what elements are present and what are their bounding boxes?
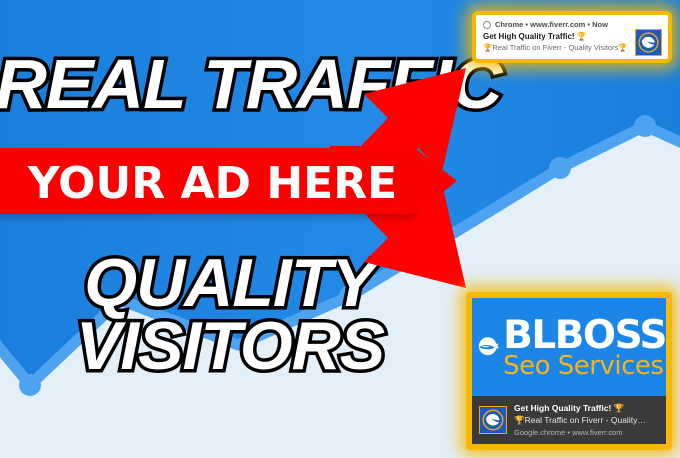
- blboss-brand-tagline: Seo Services: [503, 353, 666, 379]
- blboss-logo-area: BLBOSS Seo Services: [472, 298, 666, 396]
- notification-source-text: Chrome • www.fiverr.com • Now: [495, 20, 608, 29]
- chrome-ninja-icon: [635, 29, 662, 56]
- blboss-brand-block: BLBOSS Seo Services: [503, 316, 666, 379]
- blboss-notification-source: Google.chrome • www.fiverr.com: [514, 428, 646, 437]
- blboss-notification-row: Get High Quality Traffic! 🏆 🏆Real Traffi…: [472, 396, 666, 444]
- chart-marker: [634, 115, 656, 137]
- ad-banner-label: YOUR AD HERE: [0, 158, 425, 209]
- blboss-notification-subtitle: 🏆Real Traffic on Fiverr - Quality…: [514, 415, 646, 426]
- poster-canvas: REAL TRAFFIC YOUR AD HERE QUALITY VISITO…: [0, 0, 680, 458]
- blboss-notification-title: Get High Quality Traffic! 🏆: [514, 403, 646, 414]
- blboss-brand-name: BLBOSS: [503, 316, 666, 355]
- blboss-notification-text: Get High Quality Traffic! 🏆 🏆Real Traffi…: [514, 403, 646, 437]
- top-notification-card[interactable]: Chrome • www.fiverr.com • Now Get High Q…: [472, 11, 672, 63]
- chrome-icon: [483, 21, 491, 29]
- blboss-service-card[interactable]: BLBOSS Seo Services Get High Quality Tra…: [466, 292, 672, 450]
- notification-source-row: Chrome • www.fiverr.com • Now: [483, 20, 661, 29]
- notification-body: Chrome • www.fiverr.com • Now Get High Q…: [476, 15, 668, 59]
- headline-secondary-line2: VISITORS: [0, 315, 460, 378]
- chart-marker: [19, 374, 41, 396]
- chrome-ninja-icon: [479, 406, 507, 434]
- ninja-head-icon: [478, 319, 499, 375]
- blboss-card-body: BLBOSS Seo Services Get High Quality Tra…: [472, 298, 666, 444]
